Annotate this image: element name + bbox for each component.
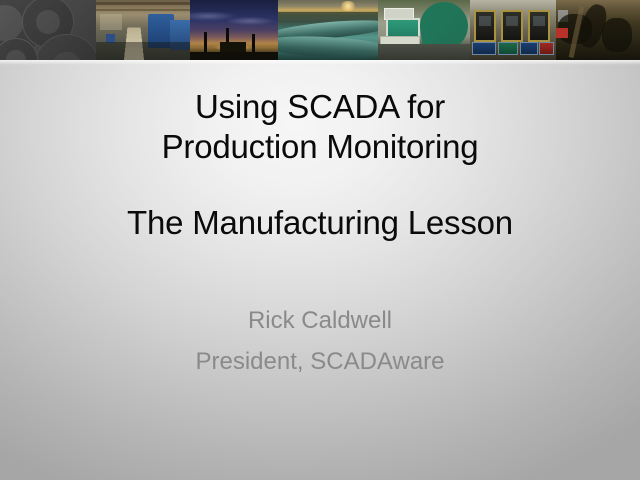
water-treatment-aerial-photo — [378, 0, 470, 60]
dusk-tower — [252, 34, 255, 52]
header-band-divider — [0, 60, 640, 65]
instrument-panel — [472, 42, 496, 55]
title-line-3: The Manufacturing Lesson — [0, 203, 640, 243]
dusk-ground — [190, 52, 278, 60]
factory-interior-photo — [96, 0, 190, 60]
slide-title: Using SCADA for Production Monitoring Th… — [0, 87, 640, 243]
slide-content: Using SCADA for Production Monitoring Th… — [0, 60, 640, 480]
control-cabinet — [474, 10, 496, 42]
factory-ceiling-beam — [96, 2, 190, 5]
plant-roadway — [378, 44, 470, 60]
plant-at-dusk-photo — [190, 0, 278, 60]
slide-subtitle: Rick Caldwell President, SCADAware — [0, 300, 640, 382]
dark-machinery-photo — [556, 0, 640, 60]
instrument-panel — [539, 42, 554, 55]
presentation-slide: Using SCADA for Production Monitoring Th… — [0, 0, 640, 480]
machinery-mass — [602, 18, 632, 52]
pipeline-tube — [278, 34, 378, 60]
instrument-panel — [520, 42, 538, 55]
dusk-clouds — [190, 8, 278, 28]
factory-ceiling-beam — [96, 9, 190, 11]
instrument-panel — [498, 42, 518, 55]
control-cabinet — [528, 10, 550, 42]
title-line-2: Production Monitoring — [0, 127, 640, 167]
industrial-gears-photo — [0, 0, 96, 60]
dusk-tower — [204, 32, 207, 52]
machinery-indicator-light — [556, 28, 568, 38]
pipeline-photo — [278, 0, 378, 60]
factory-floor-shadow — [96, 42, 190, 60]
header-image-band — [0, 0, 640, 60]
title-line-gap — [0, 167, 640, 203]
sunset-sun — [340, 1, 356, 11]
gear-photo-shading — [0, 0, 96, 60]
title-line-1: Using SCADA for — [0, 87, 640, 127]
control-cabinet — [501, 10, 523, 42]
presenter-name: Rick Caldwell — [0, 300, 640, 341]
presenter-title: President, SCADAware — [0, 341, 640, 382]
factory-light — [100, 14, 122, 30]
control-cabinets-photo — [470, 0, 556, 60]
